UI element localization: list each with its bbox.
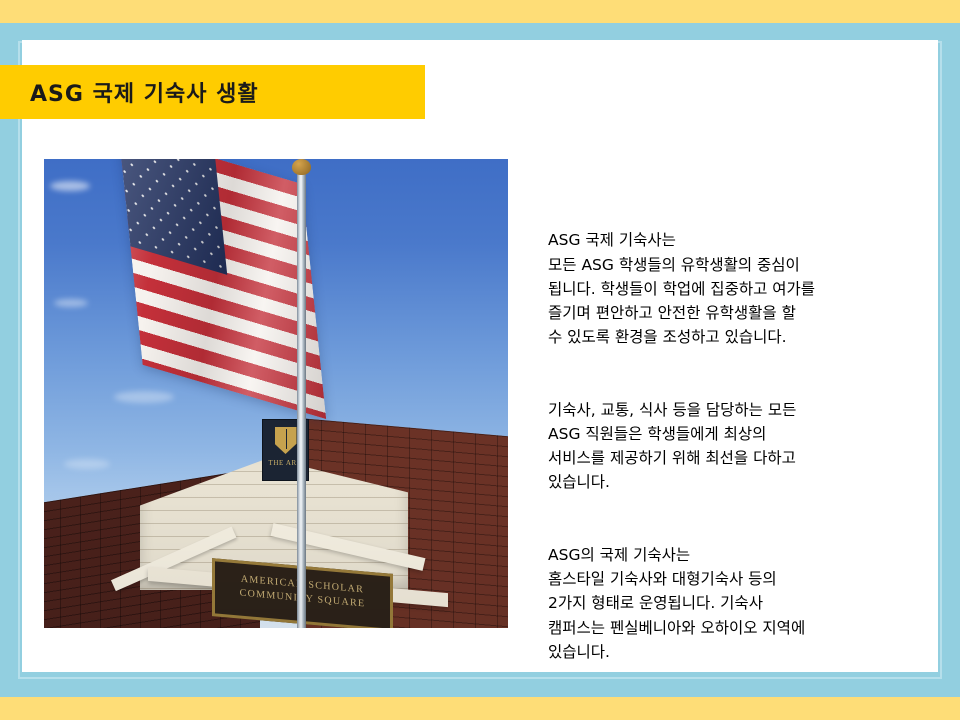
body-paragraph-3: ASG의 국제 기숙사는 홈스타일 기숙사와 대형기숙사 등의 2가지 형태로 … — [548, 543, 926, 664]
slide: ASG 국제 기숙사 생활 THE ARK — [0, 0, 960, 720]
title-banner: ASG 국제 기숙사 생활 — [0, 65, 425, 119]
dormitory-building: THE ARK AMERICAN SCHOLAR COMMUNITY SQUAR… — [44, 413, 508, 628]
shield-icon — [275, 427, 297, 454]
dormitory-photo: THE ARK AMERICAN SCHOLAR COMMUNITY SQUAR… — [44, 159, 508, 628]
body-text-block: ASG 국제 기숙사는 모든 ASG 학생들의 유학생활의 중심이 됩니다. 학… — [548, 180, 926, 712]
flagpole-finial — [292, 159, 311, 175]
flag-fabric — [118, 159, 326, 419]
page-title: ASG 국제 기숙사 생활 — [30, 76, 259, 108]
body-paragraph-1: ASG 국제 기숙사는 모든 ASG 학생들의 유학생활의 중심이 됩니다. 학… — [548, 228, 926, 349]
american-flag — [120, 184, 310, 420]
body-paragraph-2: 기숙사, 교통, 식사 등을 담당하는 모든 ASG 직원들은 학생들에게 최상… — [548, 398, 926, 495]
cloud-icon — [50, 181, 90, 191]
flagpole — [297, 165, 306, 628]
cloud-icon — [54, 299, 88, 307]
